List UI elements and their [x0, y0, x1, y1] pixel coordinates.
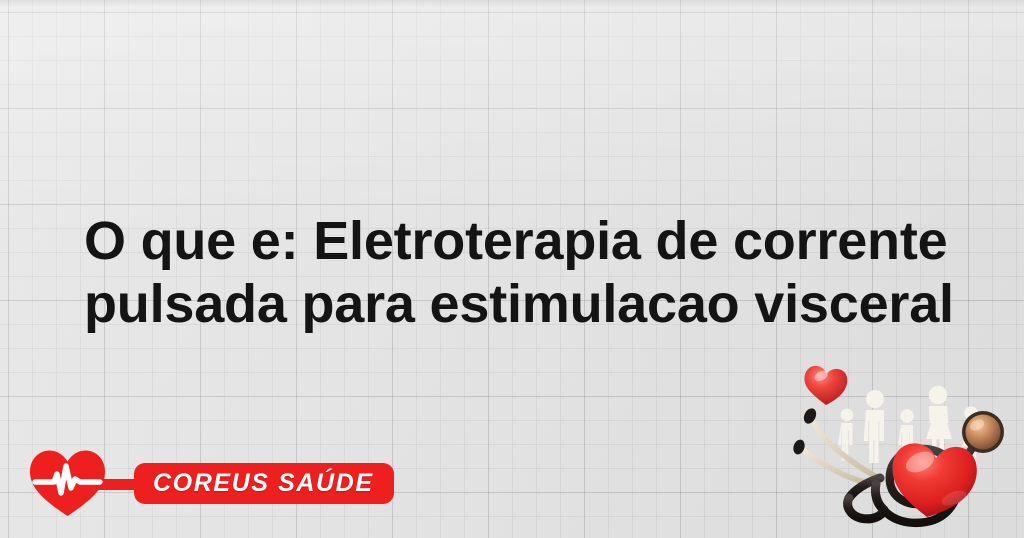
brand-logo[interactable]: COREUS SAÚDE: [28, 448, 394, 518]
brand-name-badge: COREUS SAÚDE: [134, 463, 394, 504]
brand-name-text: COREUS SAÚDE: [153, 469, 374, 498]
heart-pulse-icon: [28, 448, 106, 518]
page-title: O que e: Eletroterapia de corrente pulsa…: [84, 210, 964, 336]
small-heart-icon: [804, 366, 847, 405]
page-title-line-1: O que e: Eletroterapia de corrente: [84, 210, 964, 273]
banner-canvas: O que e: Eletroterapia de corrente pulsa…: [0, 0, 1024, 538]
page-title-line-2: pulsada para estimulacao visceral: [84, 273, 964, 336]
healthcare-illustration: [780, 348, 1024, 538]
stethoscope-chestpiece-icon: [962, 411, 1004, 453]
